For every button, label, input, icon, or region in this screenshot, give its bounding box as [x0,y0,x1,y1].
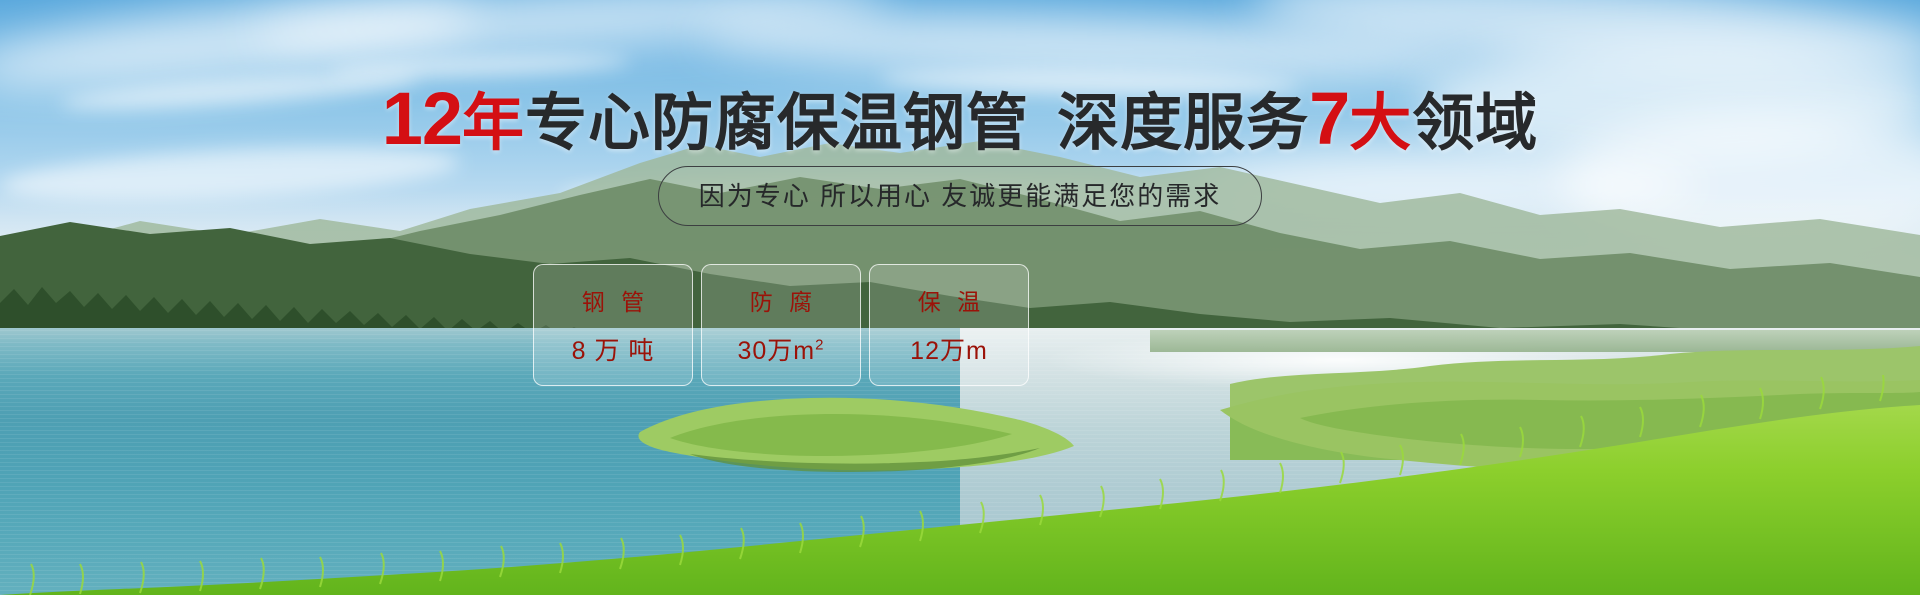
stat-card-value-text: 8 万 吨 [572,337,655,365]
headline-fields-number: 7 [1309,77,1349,160]
stat-card: 防 腐 30万m2 [701,264,861,386]
stat-card-value: 12万m [910,331,988,367]
headline-years-unit: 年 [462,89,525,158]
headline-service-text: 深度服务 [1057,89,1309,158]
stat-card-group: 钢 管 8 万 吨 防 腐 30万m2 保 温 12万m [533,264,1029,386]
stat-card: 钢 管 8 万 吨 [533,264,693,386]
stat-card: 保 温 12万m [869,264,1029,386]
stat-card-value: 30万m2 [738,331,825,367]
banner-headline: 12年专心防腐保温钢管深度服务7大领域 [0,82,1920,156]
headline-main-text: 专心防腐保温钢管 [525,89,1029,158]
headline-years-number: 12 [382,77,462,160]
headline-fields-unit: 大 [1349,89,1412,158]
foreground-grass [0,375,1920,595]
stat-card-value-superscript: 2 [815,337,824,354]
stat-card-label: 防 腐 [745,283,817,317]
stat-card-label: 保 温 [913,283,985,317]
cloud-shape [330,51,631,81]
banner-subtitle: 因为专心 所以用心 友诚更能满足您的需求 [658,166,1262,226]
stat-card-value-text: 30万m [738,337,816,365]
banner-subtitle-wrap: 因为专心 所以用心 友诚更能满足您的需求 [0,166,1920,226]
stat-card-value-text: 12万m [910,337,988,365]
headline-fields-tail: 领域 [1412,89,1538,158]
hero-banner: 12年专心防腐保温钢管深度服务7大领域 因为专心 所以用心 友诚更能满足您的需求… [0,0,1920,595]
stat-card-label: 钢 管 [577,283,649,317]
stat-card-value: 8 万 吨 [572,331,655,367]
